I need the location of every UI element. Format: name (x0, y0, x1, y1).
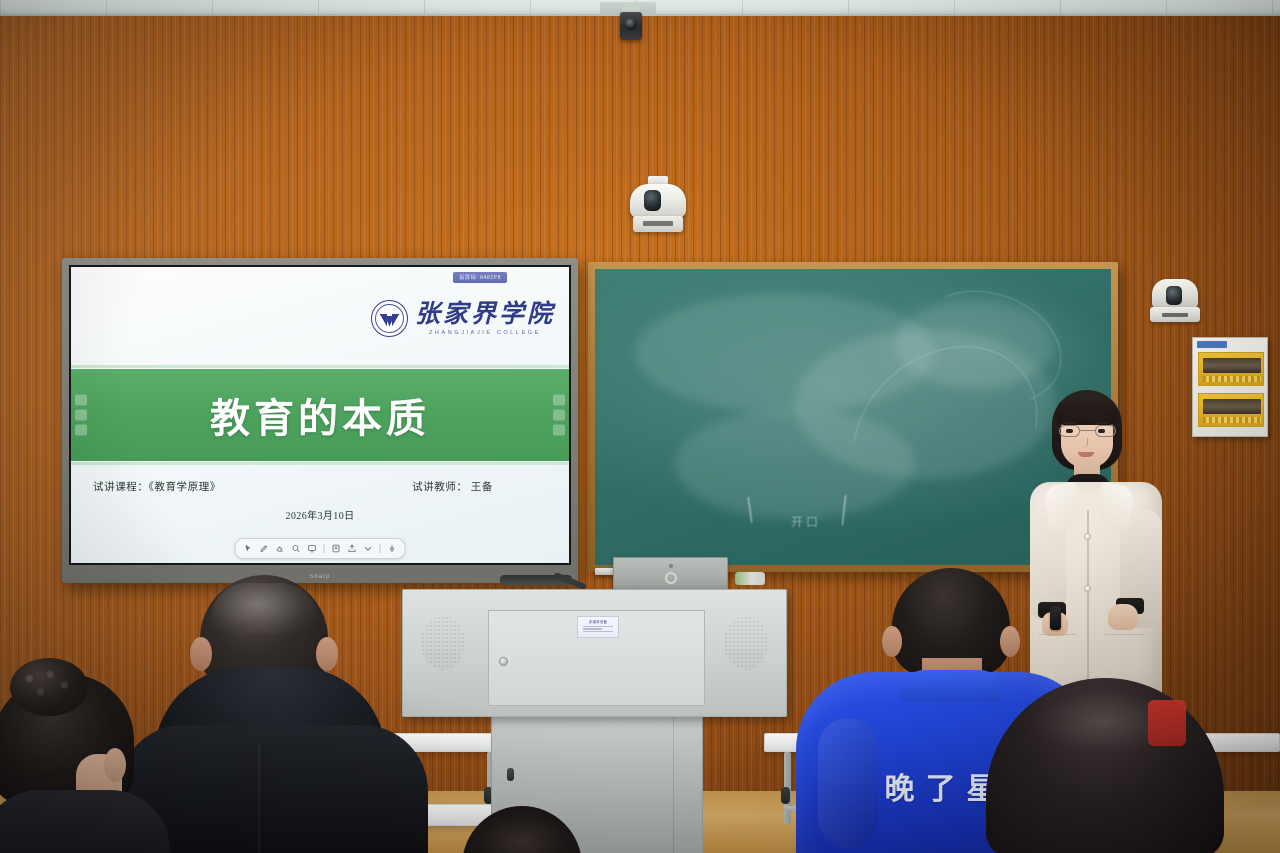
slide-title-band: 教育的本质 (71, 369, 569, 462)
magnifier-icon[interactable] (290, 542, 303, 555)
coat-pocket-right (1104, 634, 1146, 668)
hair (462, 806, 582, 853)
interactive-flat-panel[interactable]: 投屏码: 8482P8 张家界学院 ZHANGJIAJIE COLLEGE (62, 258, 578, 583)
slide-course-label: 试讲课程：《教育学原理》 (93, 479, 221, 494)
ear (190, 637, 212, 671)
panel-screen[interactable]: 投屏码: 8482P8 张家界学院 ZHANGJIAJIE COLLEGE (69, 265, 571, 565)
equipment-label-sticker: 多媒体设备 (577, 616, 619, 638)
audience-woman-bun (0, 658, 142, 853)
slide-teacher-label: 试讲教师： 王备 (412, 479, 493, 494)
eye (1066, 429, 1073, 433)
college-seal-icon (371, 300, 408, 337)
red-chair-back[interactable] (1148, 700, 1186, 746)
camera-lens-icon (625, 18, 637, 30)
camera-brand-label (1162, 313, 1188, 317)
lectern-access-door[interactable]: 多媒体设备 (488, 610, 705, 706)
lectern-seam (673, 716, 674, 853)
panel-brand-chip (1197, 341, 1227, 348)
laptop-hinge (669, 564, 673, 568)
eraser-icon[interactable] (274, 542, 287, 555)
chevron-down-icon[interactable] (362, 542, 375, 555)
hand-right (1108, 604, 1138, 630)
camera-lens-icon (1166, 286, 1182, 305)
breaker-window (1203, 399, 1261, 414)
camera-brand-label (643, 221, 673, 226)
toolbar-divider (324, 544, 325, 553)
spotlight-icon[interactable] (306, 542, 319, 555)
college-name-block: 张家界学院 ZHANGJIAJIE COLLEGE (415, 302, 555, 336)
label-line (583, 628, 602, 629)
ear (104, 748, 126, 782)
breaker-row-2[interactable] (1198, 393, 1264, 427)
export-icon[interactable] (346, 542, 359, 555)
chalkboard-text: 开口 (791, 513, 821, 530)
breaker-strip (1203, 376, 1261, 382)
multimedia-lectern[interactable]: 多媒体设备 (402, 589, 787, 717)
mountain-emblem-icon (380, 314, 399, 326)
eyebrow (1063, 422, 1076, 424)
breaker-strip (1203, 417, 1261, 423)
glasses-bridge (1080, 430, 1095, 431)
desk-foot (781, 787, 790, 804)
presentation-slide[interactable]: 投屏码: 8482P8 张家界学院 ZHANGJIAJIE COLLEGE (71, 267, 569, 563)
slide-side-tab (75, 394, 87, 405)
pin-icon[interactable] (386, 542, 399, 555)
pen-icon[interactable] (258, 542, 271, 555)
desk-clutter (735, 572, 765, 585)
slide-title: 教育的本质 (210, 386, 430, 444)
audience-man-hoodie (118, 575, 428, 853)
speaker-grille-right (724, 616, 768, 670)
ptz-tracking-camera-center (630, 176, 686, 234)
screen-cast-code-badge: 投屏码: 8482P8 (453, 272, 507, 283)
eye (1098, 429, 1105, 433)
hair-fringe (1055, 395, 1119, 425)
ptz-tracking-camera-right (1150, 279, 1200, 329)
classroom-scene: 开口 投屏码: 8482P8 张家界学院 ZHANGJIAJIE COLLEGE (0, 0, 1280, 853)
ear (1000, 626, 1020, 657)
breaker-window (1203, 358, 1261, 373)
graying-hair (210, 583, 318, 635)
college-name-en: ZHANGJIAJIE COLLEGE (429, 330, 541, 336)
lectern-lock-icon[interactable] (507, 768, 514, 781)
slide-side-tabs-right (553, 394, 565, 435)
camera-lens-icon (644, 190, 661, 211)
slide-side-tab (553, 424, 565, 435)
slide-header: 投屏码: 8482P8 张家界学院 ZHANGJIAJIE COLLEGE (71, 267, 569, 365)
audience-partial-head (462, 806, 582, 853)
fabric-fold (818, 718, 878, 848)
ear (316, 637, 338, 671)
college-logo: 张家界学院 ZHANGJIAJIE COLLEGE (371, 300, 555, 337)
ceiling-camera (620, 4, 642, 40)
slide-date: 2026年3月10日 (286, 507, 355, 522)
slide-side-tab (75, 424, 87, 435)
slide-side-tab (75, 409, 87, 420)
slide-title-band-wrapper: 教育的本质 (71, 365, 569, 466)
equipment-label-title: 多媒体设备 (580, 619, 616, 624)
toolbar-divider (380, 544, 381, 553)
jacket-seam (258, 743, 260, 853)
mouth (1078, 452, 1094, 457)
cursor-icon[interactable] (242, 542, 255, 555)
electrical-distribution-box[interactable] (1192, 337, 1268, 437)
laptop-logo-icon (665, 572, 677, 584)
slide-side-tab (553, 394, 565, 405)
screenshot-icon[interactable] (330, 542, 343, 555)
label-line (583, 631, 613, 632)
college-name-cn: 张家界学院 (415, 302, 555, 327)
breaker-row-1[interactable] (1198, 352, 1264, 386)
audience-long-hair (986, 678, 1224, 853)
label-line (583, 626, 613, 627)
slide-side-tab (553, 409, 565, 420)
slide-side-tabs-left (75, 394, 87, 435)
annotation-toolbar[interactable] (235, 538, 406, 559)
ear (882, 626, 902, 657)
laptop-computer[interactable] (613, 557, 728, 591)
eyebrow (1095, 422, 1108, 424)
slide-meta-row: 试讲课程：《教育学原理》 试讲教师： 王备 (93, 479, 547, 494)
coat-button (1084, 533, 1091, 540)
hair-bun-texture (14, 664, 84, 712)
lectern-door-handle[interactable] (499, 657, 508, 666)
